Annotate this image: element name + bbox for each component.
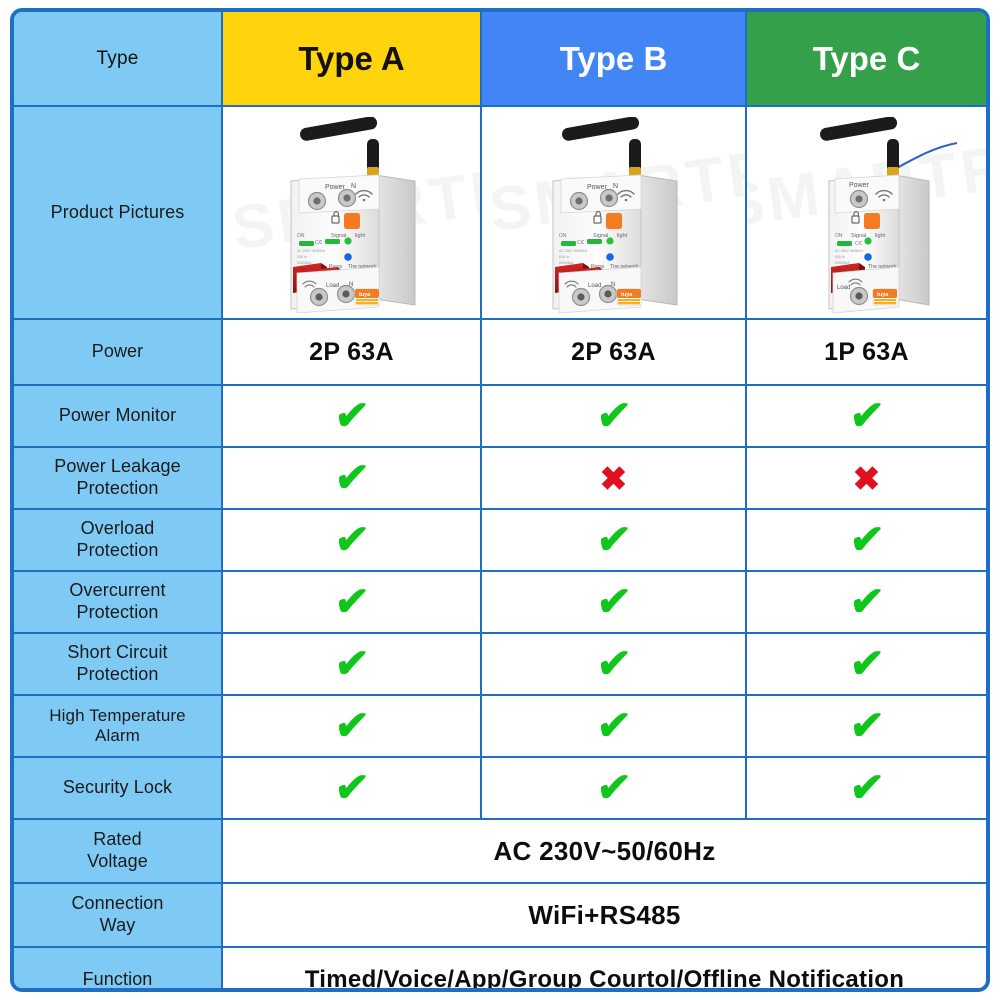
- svg-text:C€: C€: [315, 240, 322, 246]
- svg-text:AC 230V~50/60Hz: AC 230V~50/60Hz: [835, 249, 863, 253]
- short-circuit-type-a: ✔: [222, 633, 481, 695]
- high-temperature-type-a: ✔: [222, 695, 481, 757]
- label-line-1: Power Leakage: [54, 456, 180, 476]
- label-line-2: Alarm: [95, 726, 140, 745]
- check-icon: ✔: [595, 706, 633, 746]
- row-label-overcurrent-protection: Overcurrent Protection: [14, 571, 222, 633]
- cross-icon: ✖: [853, 462, 881, 495]
- check-icon: ✔: [848, 520, 886, 560]
- label-line-2: Protection: [76, 478, 158, 498]
- table-row-overload-protection: Overload Protection ✔ ✔ ✔: [14, 509, 986, 571]
- header-cell-type-c: Type C: [746, 12, 986, 106]
- table-row-product-pictures: Product Pictures SMARTROL: [14, 106, 986, 319]
- label-line-2: Protection: [76, 664, 158, 684]
- row-label-security-lock: Security Lock: [14, 757, 222, 819]
- row-label-overload-protection: Overload Protection: [14, 509, 222, 571]
- label-line-1: Overload: [81, 518, 155, 538]
- power-leakage-type-b: ✖: [481, 447, 746, 509]
- svg-text:Signal: Signal: [593, 233, 608, 239]
- check-icon: ✔: [333, 520, 371, 560]
- check-icon: ✔: [595, 644, 633, 684]
- table-row-connection-way: Connection Way WiFi+RS485: [14, 883, 986, 947]
- table-row-function: Function Timed/Voice/App/Group Courtol/O…: [14, 947, 986, 992]
- product-image-cell-type-c: SMARTROL: [746, 106, 986, 319]
- comparison-table-page: Type Type A Type B Type C Product Pictur…: [0, 0, 1000, 1000]
- row-label-rated-voltage: Rated Voltage: [14, 819, 222, 883]
- svg-text:AC 230V~50/60Hz: AC 230V~50/60Hz: [559, 249, 587, 253]
- check-icon: ✔: [333, 644, 371, 684]
- label-line-1: High Temperature: [49, 706, 185, 725]
- table-header-row: Type Type A Type B Type C: [14, 12, 986, 106]
- overcurrent-type-a: ✔: [222, 571, 481, 633]
- power-monitor-type-b: ✔: [481, 385, 746, 447]
- svg-text:Load: Load: [837, 285, 850, 291]
- label-line-2: Voltage: [87, 851, 148, 871]
- overload-type-b: ✔: [481, 509, 746, 571]
- power-value-type-c: 1P 63A: [746, 319, 986, 385]
- svg-text:tuya: tuya: [359, 292, 371, 298]
- row-label-product-pictures: Product Pictures: [14, 106, 222, 319]
- table-row-power: Power 2P 63A 2P 63A 1P 63A: [14, 319, 986, 385]
- svg-text:Power: Power: [849, 182, 870, 189]
- check-icon: ✔: [848, 582, 886, 622]
- svg-text:N: N: [349, 282, 353, 288]
- table-row-high-temperature-alarm: High Temperature Alarm ✔ ✔ ✔: [14, 695, 986, 757]
- svg-text:63A In: 63A In: [559, 255, 569, 259]
- label-line-2: Way: [100, 915, 136, 935]
- table-row-power-leakage-protection: Power Leakage Protection ✔ ✖ ✖: [14, 447, 986, 509]
- security-lock-type-b: ✔: [481, 757, 746, 819]
- comparison-table-container: Type Type A Type B Type C Product Pictur…: [10, 8, 990, 992]
- svg-text:N: N: [351, 183, 356, 190]
- header-cell-type-b: Type B: [481, 12, 746, 106]
- short-circuit-type-c: ✔: [746, 633, 986, 695]
- check-icon: ✔: [595, 396, 633, 436]
- power-leakage-type-c: ✖: [746, 447, 986, 509]
- table-row-short-circuit-protection: Short Circuit Protection ✔ ✔ ✔: [14, 633, 986, 695]
- security-lock-type-a: ✔: [222, 757, 481, 819]
- product-image-cell-type-b: SMARTROL: [481, 106, 746, 319]
- row-label-power: Power: [14, 319, 222, 385]
- svg-text:Signal: Signal: [851, 233, 866, 239]
- svg-text:Signal: Signal: [331, 233, 346, 239]
- row-label-function: Function: [14, 947, 222, 992]
- check-icon: ✔: [848, 644, 886, 684]
- row-label-power-leakage-protection: Power Leakage Protection: [14, 447, 222, 509]
- svg-text:63A In: 63A In: [297, 255, 307, 259]
- check-icon: ✔: [333, 582, 371, 622]
- cross-icon: ✖: [600, 462, 628, 495]
- security-lock-type-c: ✔: [746, 757, 986, 819]
- label-line-2: Protection: [76, 602, 158, 622]
- product-comparison-table: Type Type A Type B Type C Product Pictur…: [14, 12, 986, 992]
- svg-text:6000/6kA: 6000/6kA: [835, 261, 850, 265]
- short-circuit-type-b: ✔: [481, 633, 746, 695]
- connection-way-value: WiFi+RS485: [222, 883, 986, 947]
- svg-text:C€: C€: [855, 241, 862, 247]
- table-row-security-lock: Security Lock ✔ ✔ ✔: [14, 757, 986, 819]
- power-leakage-type-a: ✔: [222, 447, 481, 509]
- overcurrent-type-b: ✔: [481, 571, 746, 633]
- check-icon: ✔: [595, 520, 633, 560]
- row-label-connection-way: Connection Way: [14, 883, 222, 947]
- power-monitor-type-a: ✔: [222, 385, 481, 447]
- header-cell-type-a: Type A: [222, 12, 481, 106]
- svg-text:6000/6kA: 6000/6kA: [559, 261, 574, 265]
- svg-text:tuya: tuya: [621, 292, 633, 298]
- svg-text:AC 230V~50/60Hz: AC 230V~50/60Hz: [297, 249, 325, 253]
- svg-text:ON: ON: [297, 233, 305, 239]
- overload-type-a: ✔: [222, 509, 481, 571]
- header-cell-type: Type: [14, 12, 222, 106]
- overload-type-c: ✔: [746, 509, 986, 571]
- row-label-high-temperature-alarm: High Temperature Alarm: [14, 695, 222, 757]
- check-icon: ✔: [333, 768, 371, 808]
- product-image-cell-type-a: SMARTROL: [222, 106, 481, 319]
- svg-text:Power: Power: [325, 184, 346, 191]
- power-monitor-type-c: ✔: [746, 385, 986, 447]
- label-line-1: Rated: [93, 829, 142, 849]
- check-icon: ✔: [333, 458, 371, 498]
- label-line-1: Short Circuit: [67, 642, 167, 662]
- breaker-image-type-c: Power: [767, 117, 967, 315]
- svg-text:63A In: 63A In: [835, 255, 845, 259]
- row-label-short-circuit-protection: Short Circuit Protection: [14, 633, 222, 695]
- high-temperature-type-c: ✔: [746, 695, 986, 757]
- breaker-image-type-a: Power N: [247, 117, 457, 315]
- svg-text:ON: ON: [835, 233, 843, 239]
- svg-text:6000/6kA: 6000/6kA: [297, 261, 312, 265]
- table-row-rated-voltage: Rated Voltage AC 230V~50/60Hz: [14, 819, 986, 883]
- high-temperature-type-b: ✔: [481, 695, 746, 757]
- label-line-1: Connection: [71, 893, 163, 913]
- table-row-power-monitor: Power Monitor ✔ ✔ ✔: [14, 385, 986, 447]
- rated-voltage-value: AC 230V~50/60Hz: [222, 819, 986, 883]
- label-line-2: Protection: [76, 540, 158, 560]
- power-value-type-b: 2P 63A: [481, 319, 746, 385]
- svg-text:light: light: [617, 233, 628, 239]
- row-label-power-monitor: Power Monitor: [14, 385, 222, 447]
- label-line-1: Overcurrent: [69, 580, 165, 600]
- check-icon: ✔: [595, 768, 633, 808]
- check-icon: ✔: [333, 396, 371, 436]
- power-value-type-a: 2P 63A: [222, 319, 481, 385]
- function-value: Timed/Voice/App/Group Courtol/Offline No…: [222, 947, 986, 992]
- check-icon: ✔: [333, 706, 371, 746]
- svg-text:light: light: [355, 233, 366, 239]
- check-icon: ✔: [848, 706, 886, 746]
- check-icon: ✔: [848, 396, 886, 436]
- breaker-image-type-b: Power N: [509, 117, 719, 315]
- svg-text:ON: ON: [559, 233, 567, 239]
- table-row-overcurrent-protection: Overcurrent Protection ✔ ✔ ✔: [14, 571, 986, 633]
- svg-text:N: N: [611, 282, 615, 288]
- svg-text:tuya: tuya: [877, 292, 889, 298]
- check-icon: ✔: [595, 582, 633, 622]
- svg-text:N: N: [613, 183, 618, 190]
- svg-text:C€: C€: [577, 240, 584, 246]
- svg-text:Load: Load: [588, 283, 601, 289]
- svg-text:Power: Power: [587, 184, 608, 191]
- svg-text:Load: Load: [326, 283, 339, 289]
- overcurrent-type-c: ✔: [746, 571, 986, 633]
- check-icon: ✔: [848, 768, 886, 808]
- svg-text:light: light: [875, 233, 886, 239]
